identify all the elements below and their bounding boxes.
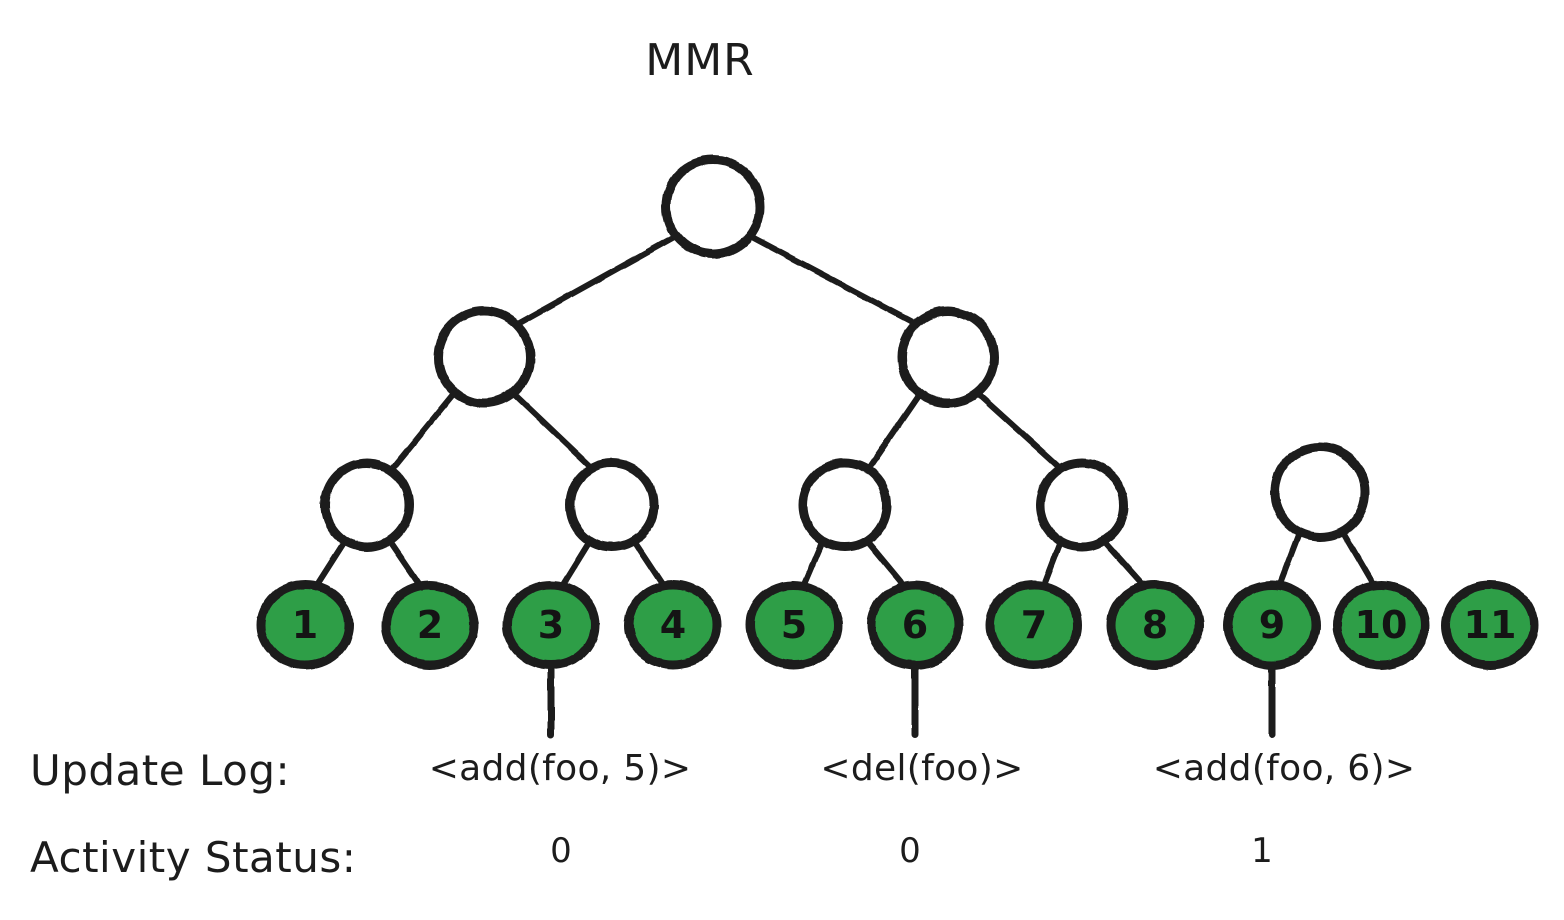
leaf-label: 9: [1259, 603, 1285, 647]
leaf-node-11[interactable]: 11: [1446, 585, 1534, 665]
activity-status-value: 0: [899, 831, 921, 871]
leaf-node-1[interactable]: 1: [261, 585, 349, 665]
leaf-node-8[interactable]: 8: [1111, 585, 1199, 665]
leaf-label: 2: [417, 603, 443, 647]
leaf-label: 4: [660, 603, 686, 647]
leaf-label: 11: [1464, 603, 1517, 647]
update-log-entry: <del(foo)>: [820, 748, 1023, 789]
leaf-node-3[interactable]: 3: [507, 585, 595, 665]
leaf-node-4[interactable]: 4: [629, 585, 717, 665]
tree-edge: [561, 541, 590, 588]
tree-edge: [803, 541, 823, 588]
tree-edge: [869, 392, 921, 468]
leaf-label: 3: [538, 603, 564, 647]
tree-edge: [976, 392, 1060, 468]
tree-edge: [512, 392, 592, 468]
update-log-entry: <add(foo, 6)>: [1153, 748, 1416, 789]
internal-node-level2-left[interactable]: [438, 311, 530, 403]
tree-edge: [1043, 541, 1061, 588]
leaf-label: 10: [1355, 603, 1408, 647]
update-log-entry: <add(foo, 5)>: [429, 748, 692, 789]
tree-edge: [516, 236, 676, 325]
internal-node-level3-d[interactable]: [1040, 463, 1124, 547]
internal-node-level3-a[interactable]: [325, 463, 409, 547]
internal-node-root[interactable]: [666, 160, 760, 254]
leaf-label: 8: [1142, 603, 1168, 647]
tree-edge: [1104, 541, 1146, 588]
leaf-node-9[interactable]: 9: [1228, 585, 1316, 665]
leaf-label: 5: [781, 603, 807, 647]
tree-edge: [390, 541, 422, 588]
leaf-node-7[interactable]: 7: [990, 585, 1078, 665]
leaf-nodes: 1234567891011: [261, 585, 1534, 665]
leaf-label: 1: [292, 603, 318, 647]
leaf-node-10[interactable]: 10: [1337, 585, 1425, 665]
leaf-node-5[interactable]: 5: [750, 585, 838, 665]
internal-node-level3-c[interactable]: [803, 463, 887, 547]
mmr-diagram: MMR 1234567891011 Update Log: Activity S…: [0, 0, 1564, 920]
tree-edge: [393, 392, 455, 468]
leaf-node-6[interactable]: 6: [871, 585, 959, 665]
tree-edge: [1279, 531, 1300, 586]
tree-edge: [750, 236, 918, 325]
tree-edge: [315, 541, 345, 588]
update-log-entries: <add(foo, 5)>0<del(foo)>0<add(foo, 6)>1: [429, 748, 1416, 871]
leaf-node-2[interactable]: 2: [386, 585, 474, 665]
update-log-label: Update Log:: [30, 746, 290, 795]
activity-status-value: 0: [550, 831, 572, 871]
log-stems: [551, 666, 1272, 735]
leaf-label: 7: [1021, 603, 1047, 647]
tree-edge: [634, 541, 665, 588]
internal-node-level2-right[interactable]: [902, 311, 994, 403]
tree-edge: [1342, 531, 1374, 586]
internal-nodes: [325, 160, 1365, 547]
tree-edge: [867, 541, 906, 588]
leaf-label: 6: [902, 603, 928, 647]
activity-status-value: 1: [1251, 831, 1273, 871]
page-title: MMR: [645, 35, 755, 86]
internal-node-level3-b[interactable]: [570, 463, 654, 547]
internal-node-orphan-peak[interactable]: [1275, 447, 1365, 537]
diagram-canvas: MMR 1234567891011 Update Log: Activity S…: [0, 0, 1564, 920]
activity-status-label: Activity Status:: [30, 833, 356, 882]
